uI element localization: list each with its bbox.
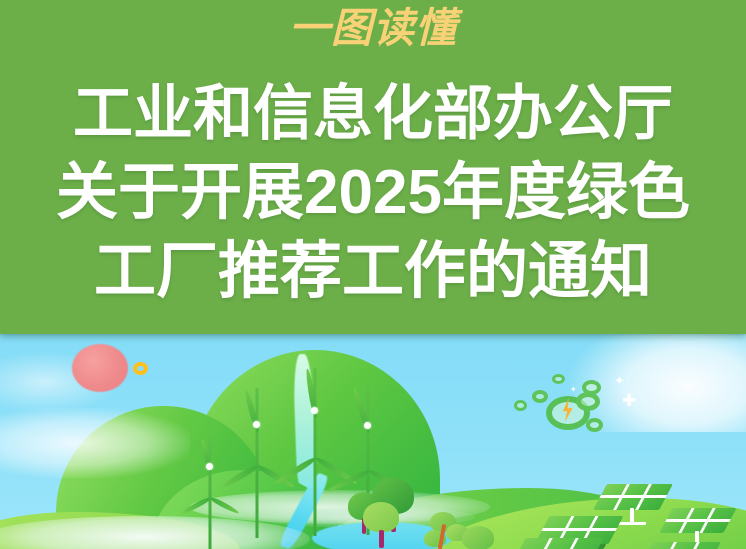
sun-icon <box>72 344 128 392</box>
energy-ring-icon <box>586 418 603 432</box>
kicker-label: 一图读懂 <box>0 8 746 49</box>
yellow-ring-icon <box>133 362 148 375</box>
sparkle-icon: ✦ <box>570 386 577 394</box>
solar-panel-icon <box>512 538 602 549</box>
title-line-3: 工厂推荐工作的通知 <box>0 232 746 311</box>
sparkle-icon: ✦ <box>614 374 625 387</box>
energy-ring-icon <box>552 374 565 384</box>
green-energy-icon-cluster: ✦ ✚ ✦ <box>510 372 640 462</box>
solar-panel-icon <box>640 542 720 549</box>
title-line-2: 关于开展2025年度绿色 <box>0 153 746 232</box>
energy-ring-icon <box>576 392 600 411</box>
energy-ring-icon <box>532 390 548 403</box>
infographic-poster: ✦ ✚ ✦ 一图读懂 工业和信息化部办公厅 关于开展2025年度绿色 工厂推荐工… <box>0 0 746 549</box>
page-title: 工业和信息化部办公厅 关于开展2025年度绿色 工厂推荐工作的通知 <box>0 74 746 311</box>
tree-icon <box>462 526 496 549</box>
energy-ring-icon <box>514 400 527 411</box>
title-line-1: 工业和信息化部办公厅 <box>0 74 746 153</box>
sparkle-icon: ✚ <box>622 392 636 409</box>
tree-icon <box>363 502 401 549</box>
cloud-mid-left-icon <box>0 408 190 478</box>
header-band: 一图读懂 工业和信息化部办公厅 关于开展2025年度绿色 工厂推荐工作的通知 <box>0 0 746 334</box>
